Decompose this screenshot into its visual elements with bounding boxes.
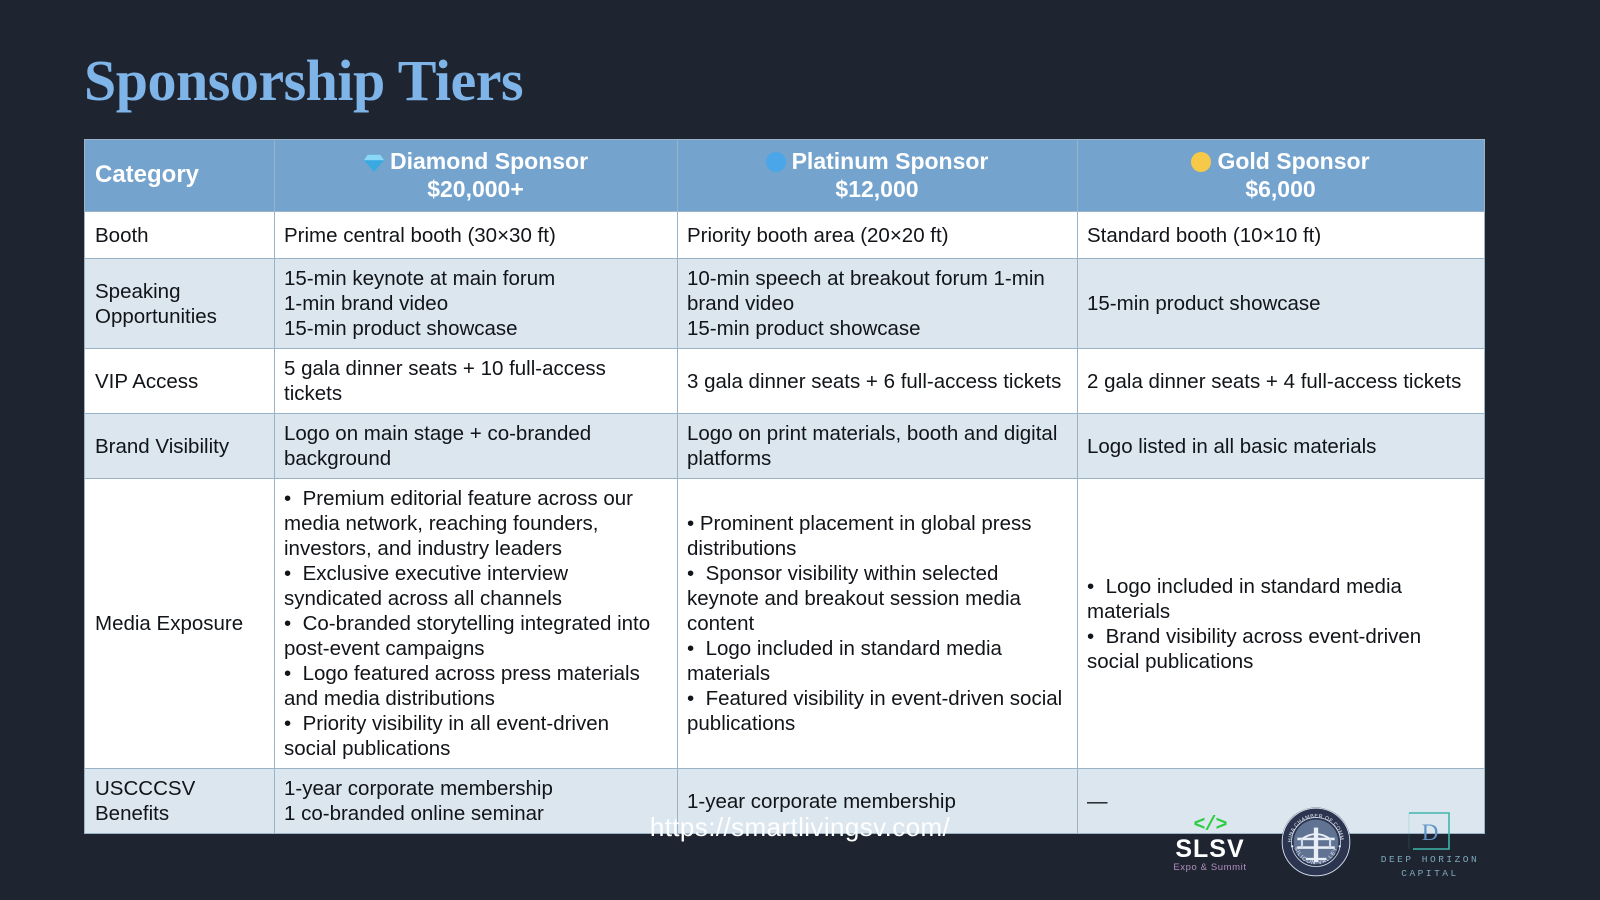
platinum-tier-label: Platinum Sponsor: [792, 148, 989, 174]
table-row: VIP Access 5 gala dinner seats + 10 full…: [85, 349, 1485, 414]
sponsorship-tiers-table-wrapper: Category Diamond Sponsor $20,000+ Platin…: [84, 139, 1484, 834]
list-item: Featured visibility in event-driven soci…: [687, 686, 1067, 736]
cell-media-gold: Logo included in standard media material…: [1078, 479, 1485, 769]
platinum-tier-name-wrap: Platinum Sponsor: [687, 148, 1067, 175]
column-header-diamond: Diamond Sponsor $20,000+: [275, 140, 678, 212]
slide-root: Sponsorship Tiers Category Diamond Spons…: [0, 0, 1600, 900]
blue-circle-icon: [766, 152, 786, 172]
row-label-brand-visibility: Brand Visibility: [85, 414, 275, 479]
row-label-media-exposure: Media Exposure: [85, 479, 275, 769]
list-item: Sponsor visibility within selected keyno…: [687, 561, 1067, 636]
list-item: Logo featured across press materials and…: [284, 661, 667, 711]
diamond-tier-price: $20,000+: [284, 176, 667, 203]
platinum-tier-price: $12,000: [687, 176, 1067, 203]
us-china-chamber-logo: US-CHINA CHAMBER OF COMMERCE SILICON VAL…: [1280, 806, 1352, 883]
list-item: Brand visibility across event-driven soc…: [1087, 624, 1474, 674]
list-item: Premium editorial feature across our med…: [284, 486, 667, 561]
dhc-name-line2: CAPITAL: [1370, 867, 1490, 881]
cell-booth-diamond: Prime central booth (30×30 ft): [275, 212, 678, 259]
sponsorship-tiers-table: Category Diamond Sponsor $20,000+ Platin…: [84, 139, 1485, 834]
cell-booth-gold: Standard booth (10×10 ft): [1078, 212, 1485, 259]
table-body: Booth Prime central booth (30×30 ft) Pri…: [85, 212, 1485, 834]
diamond-tier-label: Diamond Sponsor: [390, 148, 588, 174]
yellow-circle-icon: [1191, 152, 1211, 172]
column-header-category: Category: [85, 140, 275, 212]
diamond-tier-name-wrap: Diamond Sponsor: [284, 148, 667, 175]
dhc-name-line1: DEEP HORIZON: [1370, 853, 1490, 867]
platinum-media-bullet-list: Prominent placement in global press dist…: [687, 511, 1067, 736]
list-item: Exclusive executive interview syndicated…: [284, 561, 667, 611]
table-header-row: Category Diamond Sponsor $20,000+ Platin…: [85, 140, 1485, 212]
row-label-booth: Booth: [85, 212, 275, 259]
gold-tier-label: Gold Sponsor: [1217, 148, 1369, 174]
table-row: Brand Visibility Logo on main stage + co…: [85, 414, 1485, 479]
column-header-gold: Gold Sponsor $6,000: [1078, 140, 1485, 212]
svg-text:D: D: [1422, 820, 1439, 845]
cell-vip-platinum: 3 gala dinner seats + 6 full-access tick…: [678, 349, 1078, 414]
list-item: Co-branded storytelling integrated into …: [284, 611, 667, 661]
cell-media-platinum: Prominent placement in global press dist…: [678, 479, 1078, 769]
table-row: Booth Prime central booth (30×30 ft) Pri…: [85, 212, 1485, 259]
cell-speaking-diamond: 15-min keynote at main forum 1-min brand…: [275, 259, 678, 349]
gold-tier-name-wrap: Gold Sponsor: [1087, 148, 1474, 175]
dhc-mark: D: [1370, 809, 1490, 853]
diamond-icon: [363, 153, 385, 173]
code-brackets-icon: </>: [1158, 816, 1262, 836]
list-item: Logo included in standard media material…: [687, 636, 1067, 686]
cell-brand-diamond: Logo on main stage + co-branded backgrou…: [275, 414, 678, 479]
cell-booth-platinum: Priority booth area (20×20 ft): [678, 212, 1078, 259]
deep-horizon-capital-logo: D DEEP HORIZON CAPITAL: [1370, 809, 1490, 881]
page-title: Sponsorship Tiers: [84, 52, 523, 110]
chamber-seal-icon: US-CHINA CHAMBER OF COMMERCE SILICON VAL…: [1280, 806, 1352, 878]
cell-speaking-gold: 15-min product showcase: [1078, 259, 1485, 349]
gold-tier-price: $6,000: [1087, 176, 1474, 203]
cell-speaking-platinum: 10-min speech at breakout forum 1-min br…: [678, 259, 1078, 349]
row-label-speaking-opportunities: SpeakingOpportunities: [85, 259, 275, 349]
slsv-logo-brand: SLSV: [1158, 836, 1262, 862]
slsv-logo-tagline: Expo & Summit: [1158, 862, 1262, 873]
row-label-vip-access: VIP Access: [85, 349, 275, 414]
cell-vip-gold: 2 gala dinner seats + 4 full-access tick…: [1078, 349, 1485, 414]
table-row: Media Exposure Premium editorial feature…: [85, 479, 1485, 769]
table-header: Category Diamond Sponsor $20,000+ Platin…: [85, 140, 1485, 212]
cell-brand-gold: Logo listed in all basic materials: [1078, 414, 1485, 479]
footer-logo-group: </> SLSV Expo & Summit: [1158, 806, 1490, 883]
list-item: Logo included in standard media material…: [1087, 574, 1474, 624]
list-item: Prominent placement in global press dist…: [687, 511, 1067, 561]
diamond-media-bullet-list: Premium editorial feature across our med…: [284, 486, 667, 761]
cell-brand-platinum: Logo on print materials, booth and digit…: [678, 414, 1078, 479]
cell-media-diamond: Premium editorial feature across our med…: [275, 479, 678, 769]
bracket-d-icon: D: [1399, 809, 1461, 853]
cell-vip-diamond: 5 gala dinner seats + 10 full-access tic…: [275, 349, 678, 414]
gold-media-bullet-list: Logo included in standard media material…: [1087, 574, 1474, 674]
list-item: Priority visibility in all event-driven …: [284, 711, 667, 761]
slsv-logo: </> SLSV Expo & Summit: [1158, 816, 1262, 874]
column-header-platinum: Platinum Sponsor $12,000: [678, 140, 1078, 212]
table-row: SpeakingOpportunities 15-min keynote at …: [85, 259, 1485, 349]
